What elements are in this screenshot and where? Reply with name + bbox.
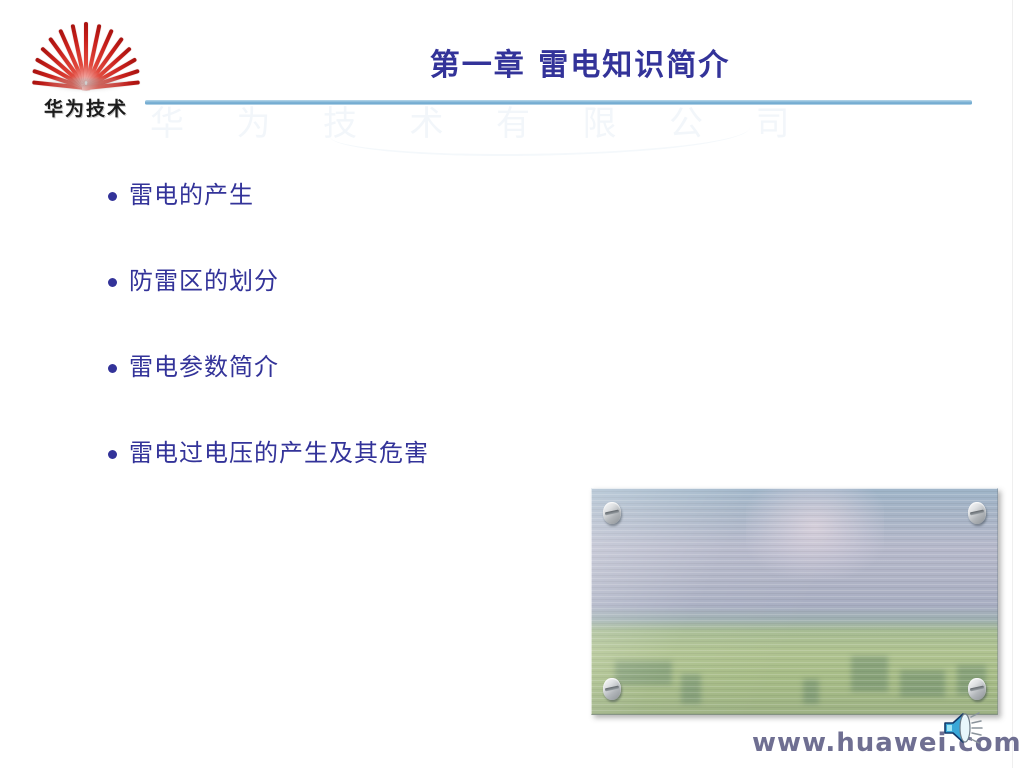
huawei-logo: 华为技术 (30, 22, 142, 126)
agenda-list: 雷电的产生 防雷区的划分 雷电参数简介 雷电过电压的产生及其危害 (108, 180, 708, 524)
list-item-label: 雷电过电压的产生及其危害 (129, 438, 429, 468)
list-item-label: 防雷区的划分 (129, 266, 279, 296)
list-item[interactable]: 雷电的产生 (108, 180, 708, 266)
screw-icon (603, 678, 621, 700)
logo-wordmark: 华为技术 (30, 94, 142, 121)
bullet-dot-icon (108, 192, 117, 201)
background-watermark-swoosh (330, 108, 750, 156)
bullet-dot-icon (108, 278, 117, 287)
screw-icon (968, 502, 986, 524)
speaker-icon[interactable] (941, 711, 985, 745)
slide-canvas: 华 为 技 术 有 限 公 司 华为技术 第一章 雷电知识简介 (0, 0, 1024, 768)
background-watermark: 华 为 技 术 有 限 公 司 (150, 96, 910, 156)
bullet-dot-icon (108, 450, 117, 459)
screw-icon (603, 502, 621, 524)
page-title: 第一章 雷电知识简介 (300, 40, 860, 84)
list-item[interactable]: 雷电参数简介 (108, 352, 708, 438)
list-item-label: 雷电的产生 (129, 180, 254, 210)
list-item[interactable]: 防雷区的划分 (108, 266, 708, 352)
list-item-label: 雷电参数简介 (129, 352, 279, 382)
right-edge-hairline (1012, 0, 1013, 768)
screw-icon (968, 678, 986, 700)
title-divider (145, 100, 972, 105)
bullet-dot-icon (108, 364, 117, 373)
logo-shadow (44, 78, 128, 92)
glass-plate-border (591, 488, 998, 715)
landscape-photo-panel (591, 488, 998, 715)
